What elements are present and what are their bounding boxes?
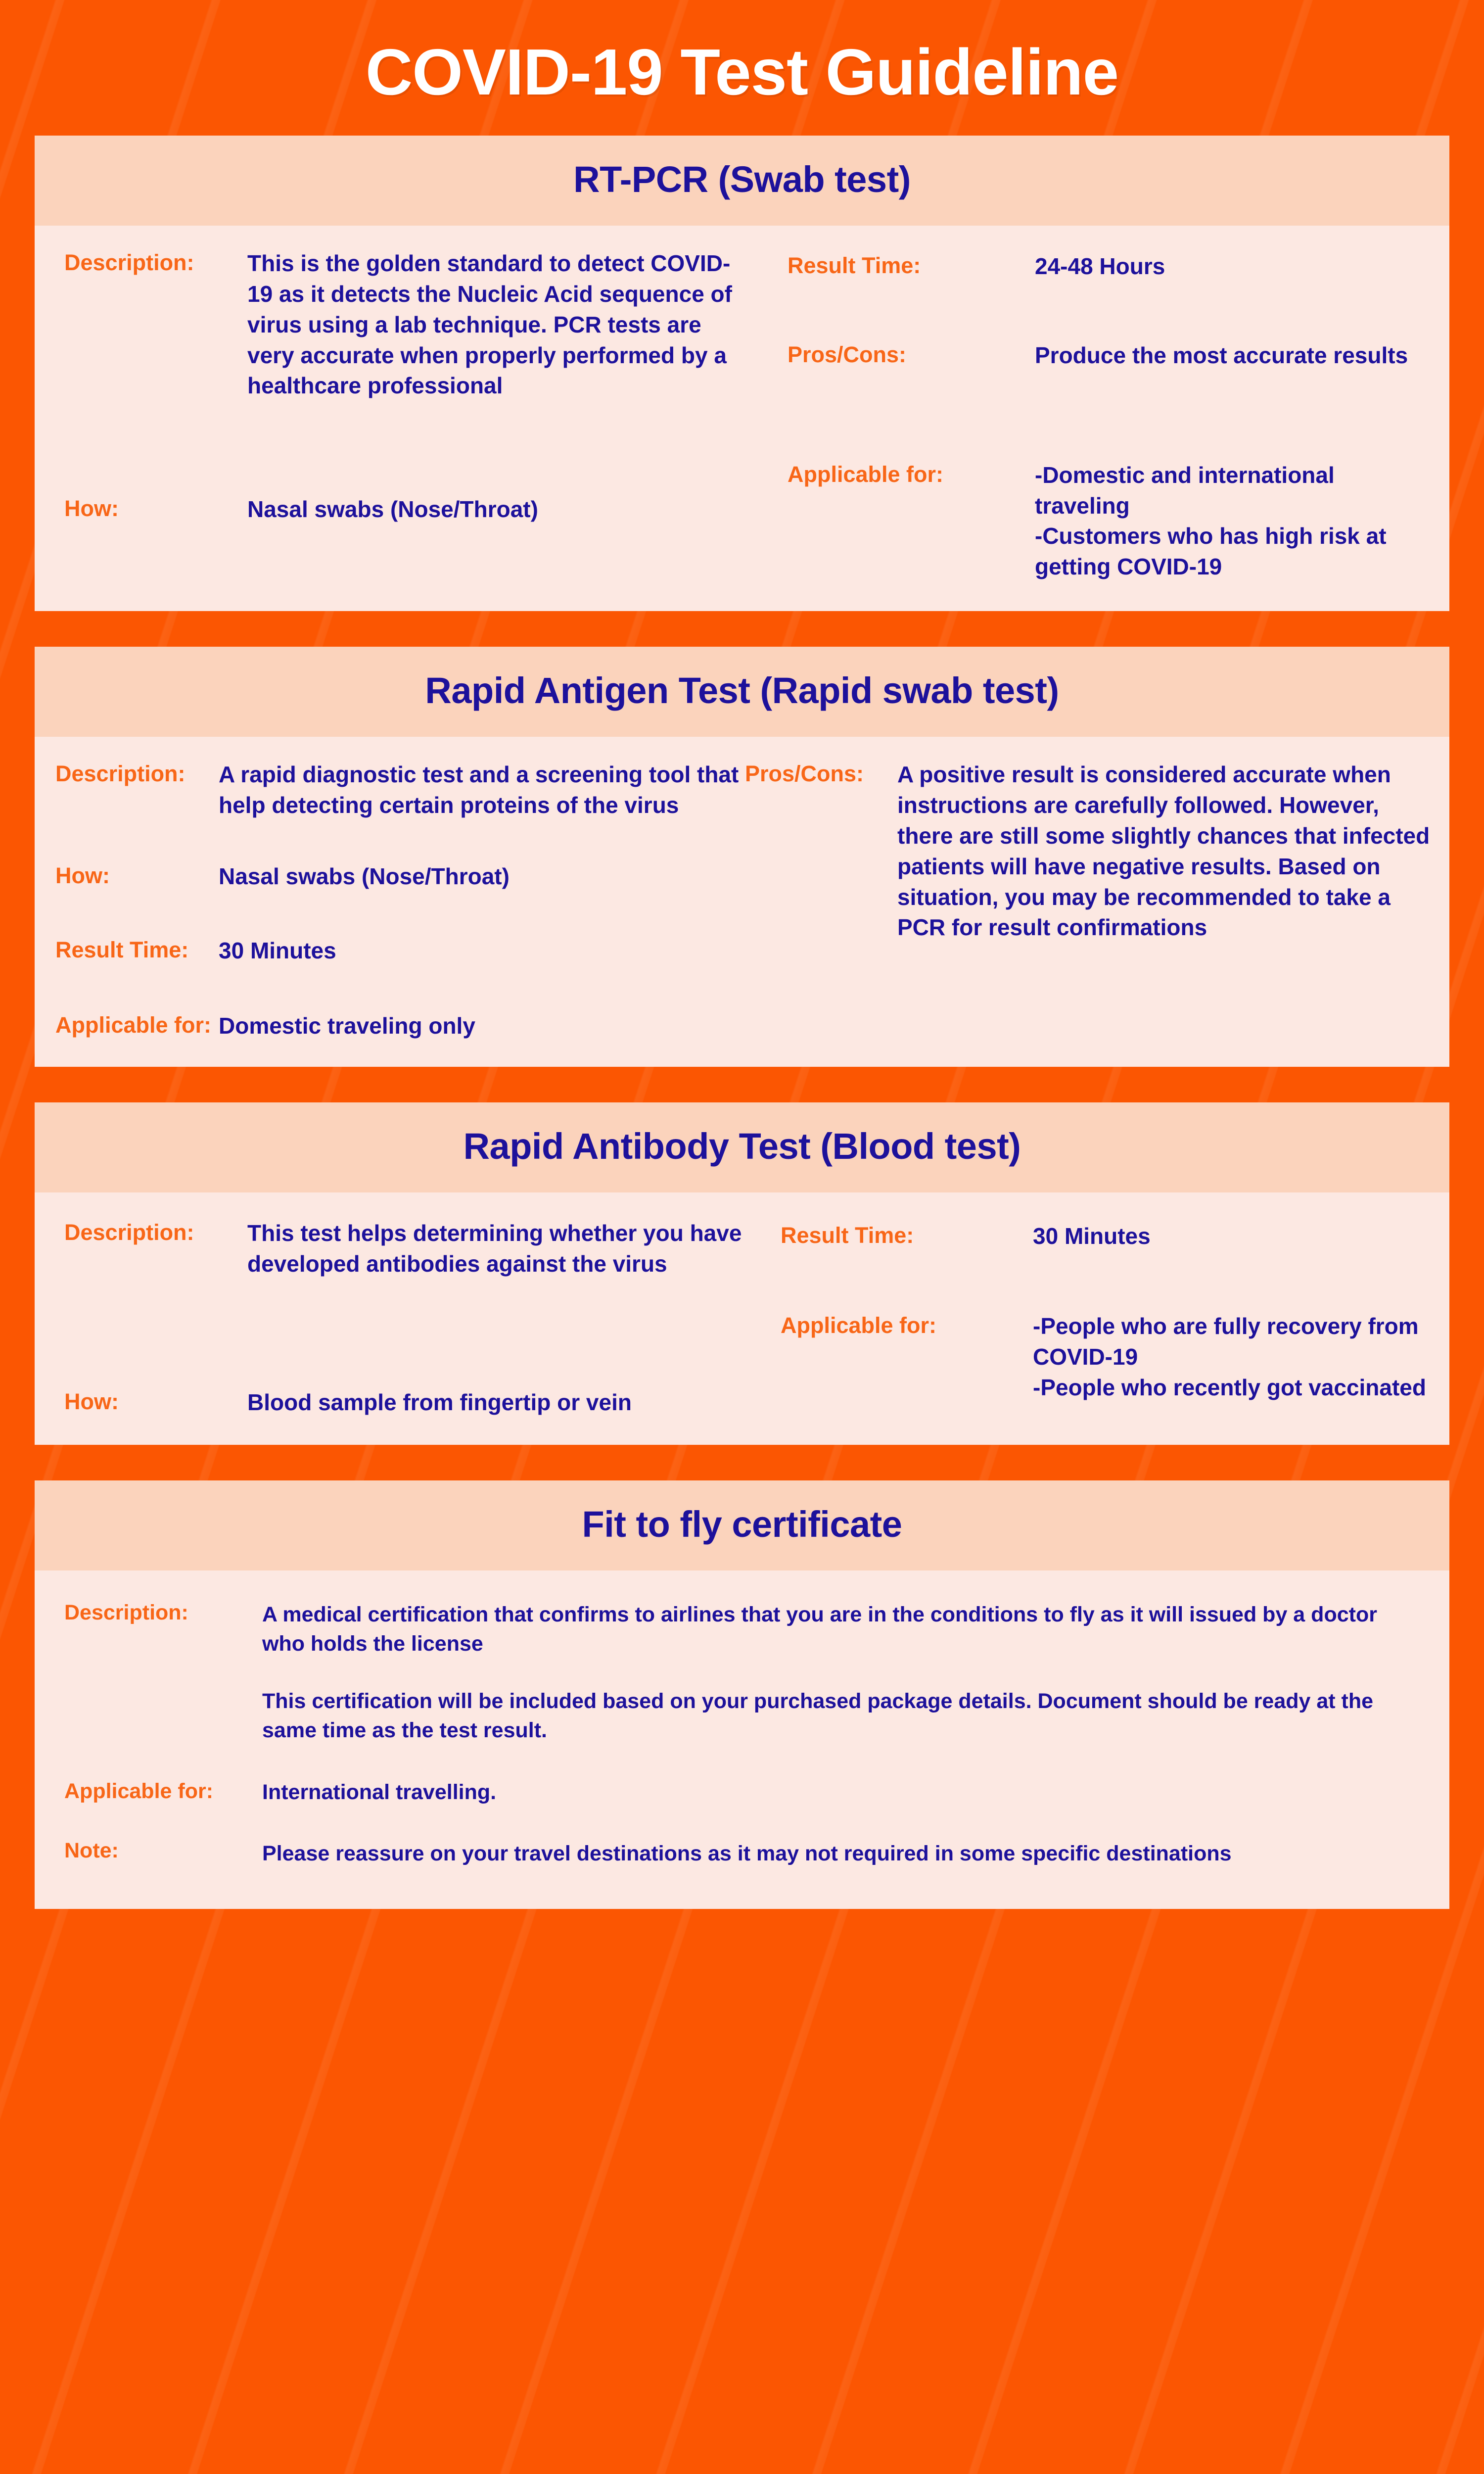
rapid-antigen-pros-cons-label: Pros/Cons:: [745, 760, 897, 789]
rapid-antigen-how-value: Nasal swabs (Nose/Throat): [219, 861, 743, 892]
rt-pcr-result-time-row: Result Time: 24-48 Hours: [788, 251, 1429, 282]
rt-pcr-description-row: Description: This is the golden standard…: [64, 248, 752, 401]
rt-pcr-result-time-label: Result Time:: [788, 251, 1035, 281]
rt-pcr-left-column: Description: This is the golden standard…: [64, 248, 752, 582]
rt-pcr-how-row: How: Nasal swabs (Nose/Throat): [64, 494, 752, 525]
rapid-antibody-applicable-row: Applicable for: -People who are fully re…: [781, 1311, 1429, 1403]
card-title-rt-pcr: RT-PCR (Swab test): [35, 136, 1449, 226]
card-rapid-antibody: Rapid Antibody Test (Blood test) Descrip…: [35, 1102, 1449, 1445]
rt-pcr-right-column: Result Time: 24-48 Hours Pros/Cons: Prod…: [752, 248, 1429, 582]
rt-pcr-description-label: Description:: [64, 248, 247, 278]
card-body-rapid-antibody: Description: This test helps determining…: [35, 1192, 1449, 1445]
card-title-fit-to-fly: Fit to fly certificate: [35, 1480, 1449, 1570]
rapid-antigen-pros-cons-value: A positive result is considered accurate…: [897, 760, 1431, 943]
rapid-antibody-result-time-value: 30 Minutes: [1033, 1221, 1429, 1252]
rapid-antigen-applicable-label: Applicable for:: [55, 1011, 219, 1040]
rapid-antigen-description-row: Description: A rapid diagnostic test and…: [55, 760, 743, 821]
fit-to-fly-description-row: Description: A medical certification tha…: [64, 1599, 1420, 1659]
rapid-antibody-description-label: Description:: [64, 1218, 247, 1247]
fit-to-fly-description-second: This certification will be included base…: [64, 1687, 1420, 1746]
rapid-antibody-applicable-value: -People who are fully recovery from COVI…: [1033, 1311, 1429, 1403]
card-rt-pcr: RT-PCR (Swab test) Description: This is …: [35, 136, 1449, 611]
rapid-antigen-right-column: Pros/Cons: A positive result is consider…: [743, 760, 1431, 1041]
rapid-antigen-how-label: How:: [55, 861, 219, 891]
rt-pcr-pros-cons-label: Pros/Cons:: [788, 340, 1035, 370]
rapid-antibody-right-column: Result Time: 30 Minutes Applicable for: …: [747, 1218, 1429, 1418]
rapid-antigen-applicable-value: Domestic traveling only: [219, 1011, 743, 1042]
fit-to-fly-applicable-value: International travelling.: [262, 1778, 1420, 1807]
rapid-antibody-description-value: This test helps determining whether you …: [247, 1218, 747, 1280]
card-body-rt-pcr: Description: This is the golden standard…: [35, 226, 1449, 611]
rapid-antigen-applicable-row: Applicable for: Domestic traveling only: [55, 1011, 743, 1042]
rt-pcr-pros-cons-value: Produce the most accurate results: [1035, 340, 1429, 371]
card-title-rapid-antibody: Rapid Antibody Test (Blood test): [35, 1102, 1449, 1192]
rt-pcr-pros-cons-row: Pros/Cons: Produce the most accurate res…: [788, 340, 1429, 371]
rapid-antibody-applicable-line-2: -People who recently got vaccinated: [1033, 1373, 1429, 1403]
rapid-antibody-left-column: Description: This test helps determining…: [64, 1218, 747, 1418]
rapid-antibody-how-label: How:: [64, 1387, 247, 1417]
rt-pcr-how-label: How:: [64, 494, 247, 523]
rt-pcr-applicable-line-1: -Domestic and international traveling: [1035, 460, 1429, 522]
rapid-antibody-result-time-row: Result Time: 30 Minutes: [781, 1221, 1429, 1252]
rapid-antibody-result-time-label: Result Time:: [781, 1221, 1033, 1250]
rapid-antibody-description-row: Description: This test helps determining…: [64, 1218, 747, 1280]
fit-to-fly-applicable-row: Applicable for: International travelling…: [64, 1778, 1420, 1807]
fit-to-fly-note-row: Note: Please reassure on your travel des…: [64, 1837, 1420, 1868]
rapid-antigen-result-time-value: 30 Minutes: [219, 936, 743, 966]
rapid-antigen-pros-cons-row: Pros/Cons: A positive result is consider…: [745, 760, 1431, 943]
card-rapid-antigen: Rapid Antigen Test (Rapid swab test) Des…: [35, 647, 1449, 1067]
rt-pcr-applicable-row: Applicable for: -Domestic and internatio…: [788, 460, 1429, 582]
card-fit-to-fly: Fit to fly certificate Description: A me…: [35, 1480, 1449, 1909]
rapid-antigen-how-row: How: Nasal swabs (Nose/Throat): [55, 861, 743, 892]
rapid-antigen-result-time-label: Result Time:: [55, 936, 219, 965]
rt-pcr-applicable-value: -Domestic and international traveling -C…: [1035, 460, 1429, 582]
fit-to-fly-description-label: Description:: [64, 1599, 262, 1627]
infographic-page: COVID-19 Test Guideline RT-PCR (Swab tes…: [0, 0, 1484, 2474]
card-title-rapid-antigen: Rapid Antigen Test (Rapid swab test): [35, 647, 1449, 737]
rapid-antigen-left-column: Description: A rapid diagnostic test and…: [55, 760, 743, 1041]
rapid-antigen-result-time-row: Result Time: 30 Minutes: [55, 936, 743, 966]
rt-pcr-applicable-line-2: -Customers who has high risk at getting …: [1035, 521, 1429, 582]
rapid-antigen-description-label: Description:: [55, 760, 219, 789]
card-body-fit-to-fly: Description: A medical certification tha…: [35, 1570, 1449, 1909]
rt-pcr-how-value: Nasal swabs (Nose/Throat): [247, 494, 752, 525]
rt-pcr-applicable-label: Applicable for:: [788, 460, 1035, 489]
page-title: COVID-19 Test Guideline: [35, 0, 1449, 136]
rapid-antibody-applicable-line-1: -People who are fully recovery from COVI…: [1033, 1311, 1429, 1373]
fit-to-fly-note-value: Please reassure on your travel destinati…: [262, 1837, 1420, 1868]
fit-to-fly-applicable-label: Applicable for:: [64, 1778, 262, 1806]
fit-to-fly-note-label: Note:: [64, 1837, 262, 1865]
rapid-antibody-applicable-label: Applicable for:: [781, 1311, 1033, 1340]
rapid-antibody-how-row: How: Blood sample from fingertip or vein: [64, 1387, 747, 1418]
rt-pcr-result-time-value: 24-48 Hours: [1035, 251, 1429, 282]
rt-pcr-description-value: This is the golden standard to detect CO…: [247, 248, 752, 401]
card-body-rapid-antigen: Description: A rapid diagnostic test and…: [35, 737, 1449, 1067]
fit-to-fly-description-value: A medical certification that confirms to…: [262, 1599, 1420, 1659]
fit-to-fly-description-bold: A medical certification: [262, 1603, 488, 1626]
rapid-antibody-how-value: Blood sample from fingertip or vein: [247, 1387, 747, 1418]
rapid-antigen-description-value: A rapid diagnostic test and a screening …: [219, 760, 743, 821]
